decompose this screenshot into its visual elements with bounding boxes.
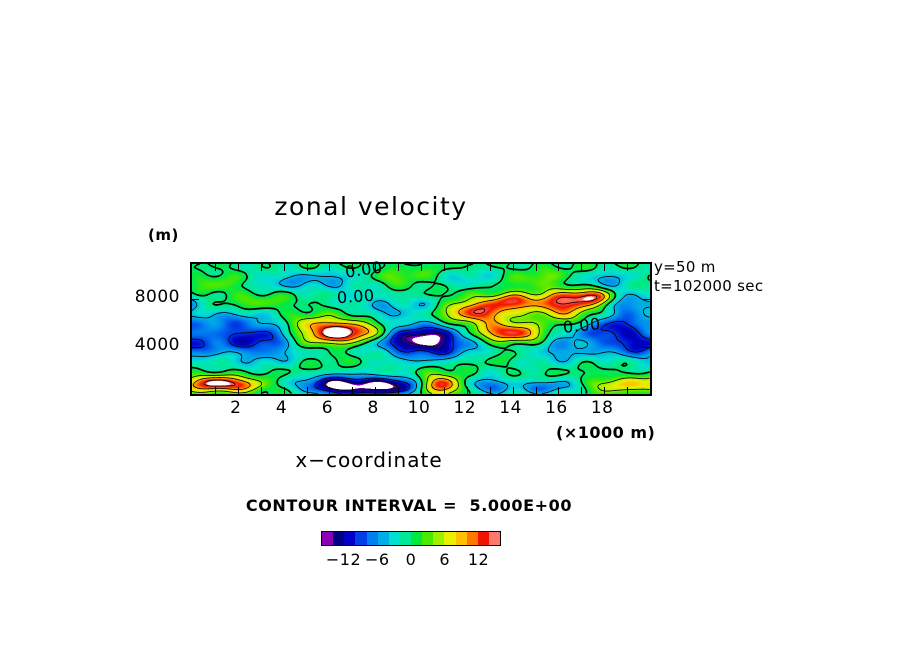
x-axis-title: x−coordinate — [0, 448, 904, 472]
x-tick-bottom — [307, 387, 308, 394]
x-tick-label: 16 — [536, 398, 576, 418]
colorbar-band — [355, 532, 366, 545]
x-tick-top — [238, 264, 239, 271]
colorbar-band — [411, 532, 422, 545]
x-tick-bottom — [581, 387, 582, 394]
x-tick-top — [444, 264, 445, 271]
x-tick-label: 4 — [262, 398, 302, 418]
annotation-t-value: t=102000 sec — [654, 277, 763, 295]
contour-interval-text: CONTOUR INTERVAL = 5.000E+00 — [246, 496, 572, 515]
y-tick-left — [192, 299, 199, 300]
x-tick-bottom — [513, 387, 514, 394]
colorbar-band — [456, 532, 467, 545]
colorbar-band — [322, 532, 333, 545]
page-title: zonal velocity — [0, 192, 904, 221]
y-tick-left — [192, 347, 199, 348]
colorbar-band — [444, 532, 455, 545]
y-tick-right — [643, 347, 650, 348]
x-tick-top — [375, 264, 376, 271]
x-tick-bottom — [421, 387, 422, 394]
y-tick-right — [643, 299, 650, 300]
colorbar-tick-labels: −12−60612 — [321, 550, 501, 572]
x-tick-top — [215, 264, 216, 271]
x-tick-top — [421, 264, 422, 271]
y-tick-label: 4000 — [135, 335, 180, 355]
x-axis-title-text: x−coordinate — [295, 448, 442, 472]
colorbar — [321, 531, 501, 546]
contour-interval-caption: CONTOUR INTERVAL = 5.000E+00 — [0, 496, 904, 515]
x-tick-label: 2 — [216, 398, 256, 418]
x-tick-top — [398, 264, 399, 271]
x-tick-top — [467, 264, 468, 271]
x-tick-label: 14 — [491, 398, 531, 418]
x-tick-label: 6 — [307, 398, 347, 418]
x-tick-bottom — [467, 387, 468, 394]
x-tick-top — [352, 264, 353, 271]
x-tick-bottom — [604, 387, 605, 394]
colorbar-band — [478, 532, 489, 545]
x-tick-bottom — [536, 387, 537, 394]
colorbar-tick-label: 12 — [459, 550, 499, 569]
colorbar-band — [367, 532, 378, 545]
x-tick-bottom — [329, 387, 330, 394]
side-annotations: y=50 m t=102000 sec — [654, 258, 763, 296]
x-tick-label: 18 — [582, 398, 622, 418]
x-tick-top — [329, 264, 330, 271]
x-tick-top — [627, 264, 628, 271]
y-tick-label: 8000 — [135, 287, 180, 307]
x-tick-bottom — [444, 387, 445, 394]
colorbar-band — [489, 532, 500, 545]
x-tick-top — [284, 264, 285, 271]
x-tick-bottom — [238, 387, 239, 394]
contour-figure: zonal velocity (m) 0.000.000.00 40008000… — [0, 0, 904, 654]
x-tick-bottom — [627, 387, 628, 394]
x-tick-label: 10 — [399, 398, 439, 418]
x-tick-bottom — [490, 387, 491, 394]
x-tick-label: 12 — [445, 398, 485, 418]
colorbar-band — [400, 532, 411, 545]
colorbar-band — [378, 532, 389, 545]
x-tick-top — [581, 264, 582, 271]
x-tick-bottom — [352, 387, 353, 394]
x-tick-bottom — [284, 387, 285, 394]
contour-field-canvas — [192, 264, 650, 394]
y-axis-unit-label: (m) — [148, 226, 179, 244]
y-axis-tick-labels: 40008000 — [108, 262, 180, 392]
page-title-text: zonal velocity — [274, 192, 467, 221]
colorbar-band — [333, 532, 344, 545]
colorbar-band — [467, 532, 478, 545]
x-tick-top — [558, 264, 559, 271]
x-tick-top — [513, 264, 514, 271]
x-tick-top — [307, 264, 308, 271]
x-tick-bottom — [215, 387, 216, 394]
x-tick-bottom — [261, 387, 262, 394]
annotation-y-value: y=50 m — [654, 258, 716, 276]
x-tick-label: 8 — [353, 398, 393, 418]
x-tick-bottom — [398, 387, 399, 394]
x-tick-top — [261, 264, 262, 271]
x-tick-top — [604, 264, 605, 271]
plot-area — [190, 262, 652, 396]
colorbar-band — [389, 532, 400, 545]
colorbar-band — [344, 532, 355, 545]
colorbar-band — [433, 532, 444, 545]
x-tick-top — [490, 264, 491, 271]
x-tick-bottom — [558, 387, 559, 394]
colorbar-band — [422, 532, 433, 545]
x-tick-bottom — [375, 387, 376, 394]
x-axis-unit-label: (×1000 m) — [556, 423, 655, 442]
x-tick-top — [536, 264, 537, 271]
